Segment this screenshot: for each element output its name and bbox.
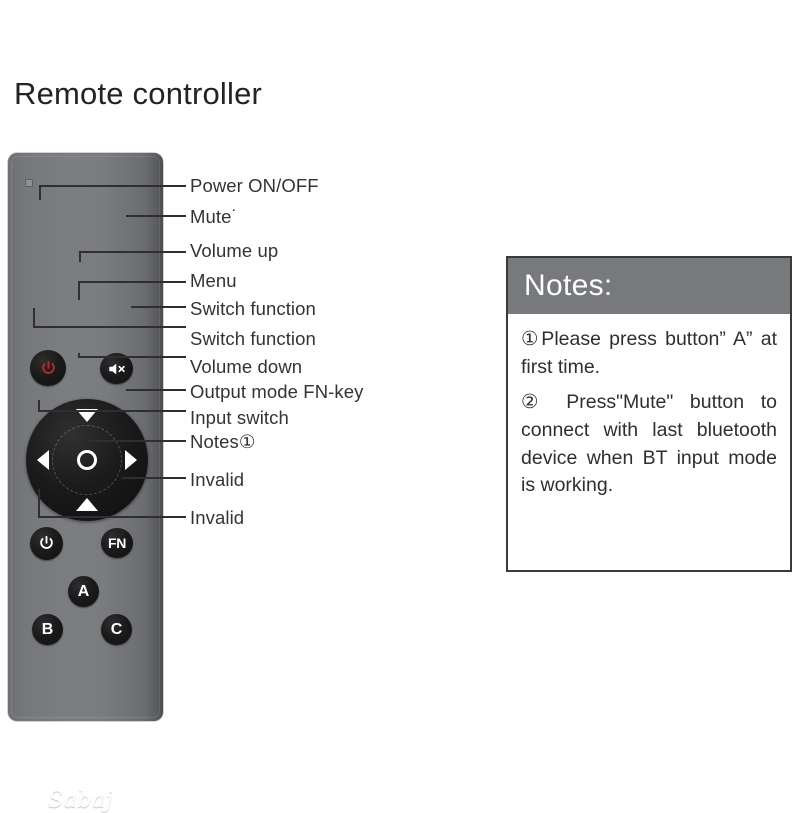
notes-header: Notes: <box>508 258 790 314</box>
brand-logo: Sabaj <box>48 788 113 813</box>
callout-label-output-mode: Output mode FN-key <box>190 381 364 403</box>
speaker-mute-icon <box>107 361 127 377</box>
callout-label-invalid-c: Invalid <box>190 469 244 491</box>
callout-label-input-switch: Input switch <box>190 407 289 429</box>
menu-button[interactable] <box>77 450 97 470</box>
mute-button[interactable] <box>100 353 133 384</box>
notes-panel: Notes: ①Please press button” A” at first… <box>506 256 792 572</box>
remote-controller-body: FN A B C Sabaj <box>8 153 163 721</box>
callout-label-invalid-b: Invalid <box>190 507 244 529</box>
callout-label-switch-2: Switch function <box>190 328 316 350</box>
a-button[interactable]: A <box>68 576 99 607</box>
dpad-navigation-cluster[interactable] <box>26 399 148 521</box>
volume-up-button[interactable] <box>76 409 98 422</box>
page-title: Remote controller <box>14 76 262 112</box>
power-symbol-icon <box>38 535 55 552</box>
fn-button[interactable]: FN <box>101 528 133 558</box>
switch-function-right-button[interactable] <box>125 450 137 470</box>
note-item: ② Press"Mute" button to connect with las… <box>521 389 777 500</box>
callout-label-volume-down: Volume down <box>190 356 302 378</box>
volume-down-button[interactable] <box>76 498 98 511</box>
callout-label-power: Power ON/OFF <box>190 175 319 197</box>
ir-led-indicator-icon <box>25 179 33 187</box>
c-button[interactable]: C <box>101 614 132 645</box>
callout-label-mute: Mute˙ <box>190 206 238 228</box>
switch-function-left-button[interactable] <box>37 450 49 470</box>
callout-label-switch-1: Switch function <box>190 298 316 320</box>
input-switch-button[interactable] <box>30 527 63 560</box>
callout-label-menu: Menu <box>190 270 237 292</box>
power-symbol-icon <box>40 360 57 377</box>
power-button[interactable] <box>30 350 66 386</box>
note-item: ①Please press button” A” at first time. <box>521 326 777 381</box>
b-button[interactable]: B <box>32 614 63 645</box>
notes-body: ①Please press button” A” at first time. … <box>508 314 790 508</box>
notes-title: Notes: <box>524 269 613 303</box>
callout-label-volume-up: Volume up <box>190 240 278 262</box>
callout-label-notes-a: Notes① <box>190 431 256 453</box>
